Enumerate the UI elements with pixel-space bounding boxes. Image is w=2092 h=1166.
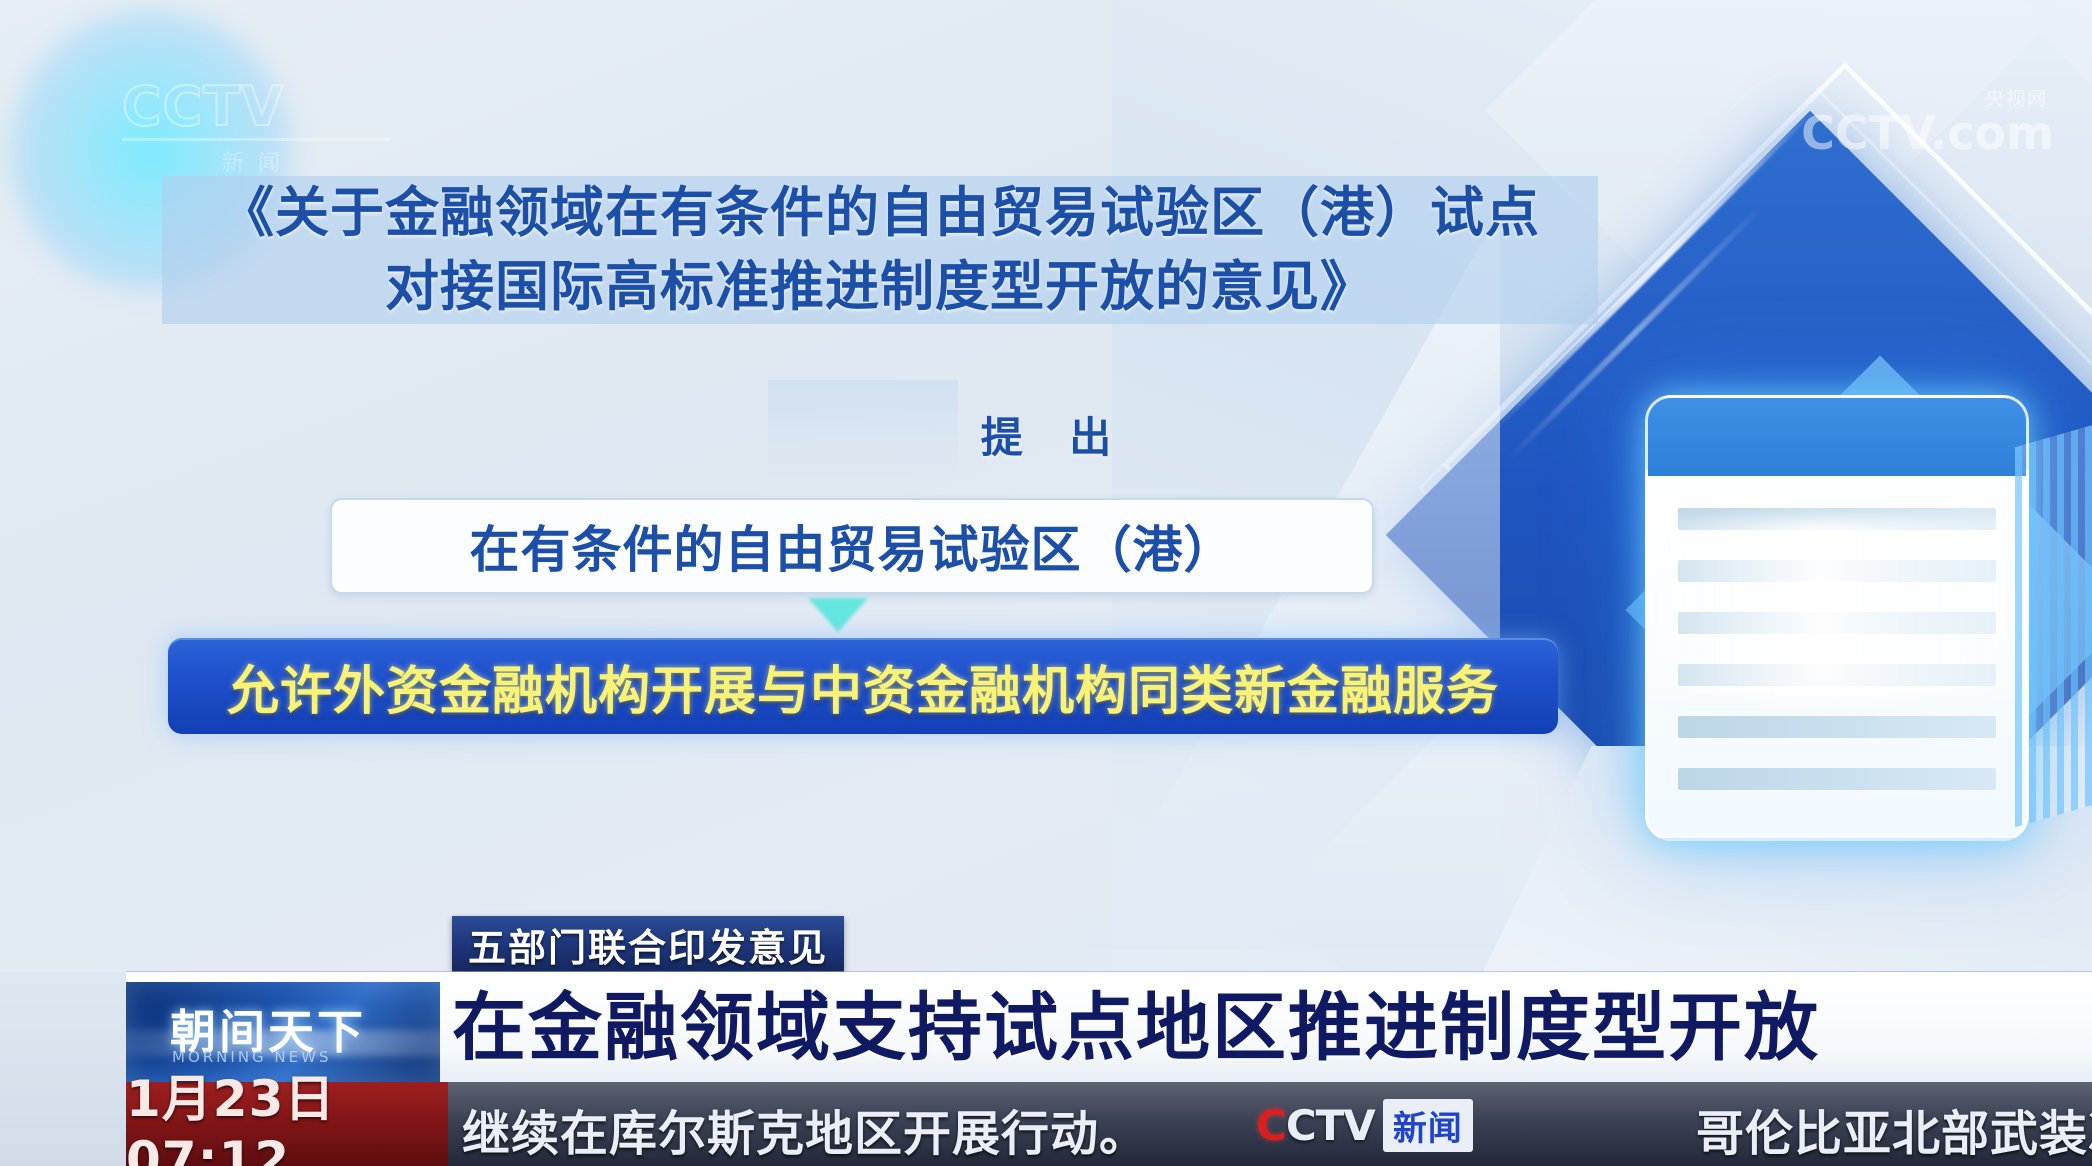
document-text-line <box>1678 768 1996 790</box>
cctv-news-logo-prefix: C <box>1256 1101 1286 1150</box>
document-text-line <box>1678 664 1996 686</box>
triangle-down-icon <box>808 598 868 632</box>
cctv-news-logo: CCTV 新闻 <box>1256 1098 1473 1152</box>
document-text-line <box>1678 508 1996 530</box>
lower-third-left-edge <box>0 972 126 1166</box>
document-edge-lines <box>2015 413 2092 827</box>
headline-text: 在金融领域支持试点地区推进制度型开放 <box>452 978 1820 1078</box>
news-ticker: 1月23日 07:12 继续在库尔斯克地区开展行动。 CCTV 新闻 哥伦比亚北… <box>126 1082 2092 1166</box>
document-text-line <box>1678 716 1996 738</box>
document-text-line <box>1678 612 1996 634</box>
document-text-line <box>1678 560 1996 582</box>
cctv-news-logo-rest: CTV <box>1286 1101 1375 1150</box>
scope-box-label: 在有条件的自由贸易试验区（港） <box>470 510 1235 582</box>
graphic-title: 《关于金融领域在有条件的自由贸易试验区（港）试点 对接国际高标准推进制度型开放的… <box>162 176 1598 324</box>
kicker-label: 五部门联合印发意见 <box>468 917 828 972</box>
cctv-news-logo-text: CCTV <box>1256 1101 1375 1150</box>
scope-box: 在有条件的自由贸易试验区（港） <box>330 498 1374 594</box>
connector-label: 提 出 <box>0 404 2092 465</box>
graphic-title-line1: 《关于金融领域在有条件的自由贸易试验区（港）试点 <box>220 181 1540 244</box>
kicker-badge: 五部门联合印发意见 <box>452 916 844 972</box>
highlight-bar-label: 允许外资金融机构开展与中资金融机构同类新金融服务 <box>227 649 1499 724</box>
highlight-bar: 允许外资金融机构开展与中资金融机构同类新金融服务 <box>168 638 1558 734</box>
ticker-story-left: 继续在库尔斯克地区开展行动。 <box>462 1094 1148 1164</box>
broadcast-screen: CCTV 新闻 央视网 CCTV.com 《关于金融领域在有条件的自由贸易试验区… <box>0 0 2092 1166</box>
timestamp-box: 1月23日 07:12 <box>126 1082 448 1166</box>
timestamp-label: 1月23日 07:12 <box>126 1059 448 1166</box>
cctv-news-logo-badge: 新闻 <box>1383 1099 1473 1152</box>
ticker-story-right: 哥伦比亚北部武装冲突 <box>1696 1094 2092 1164</box>
graphic-title-line2: 对接国际高标准推进制度型开放的意见》 <box>162 250 1598 324</box>
